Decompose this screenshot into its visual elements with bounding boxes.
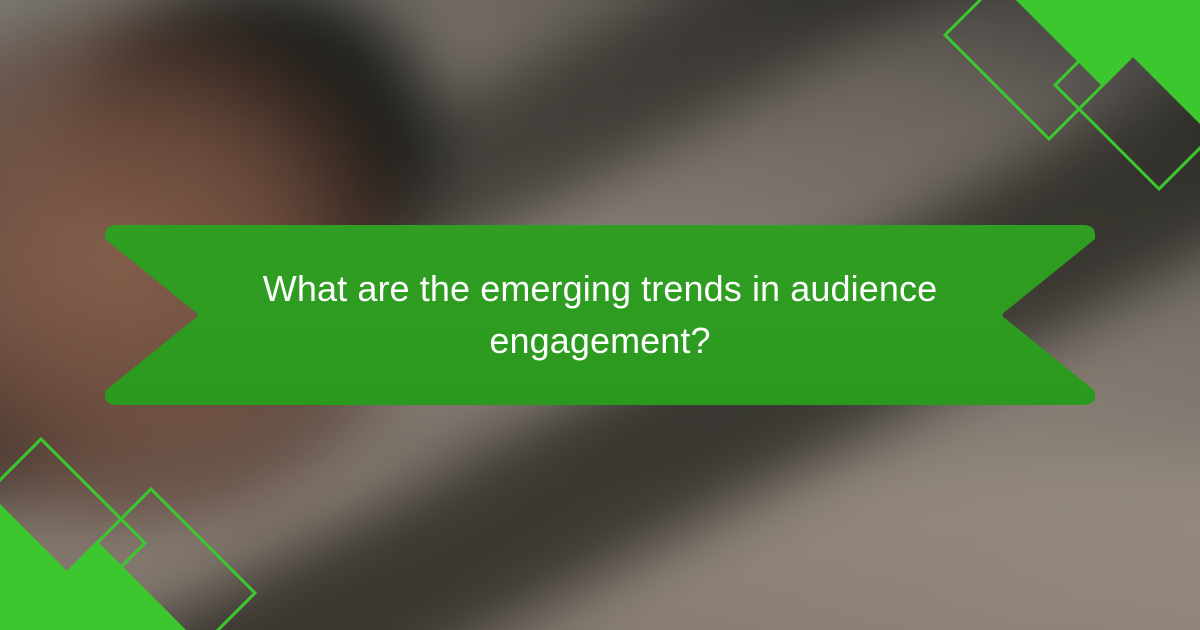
share-card: What are the emerging trends in audience… <box>0 0 1200 630</box>
decoration-bottom-left <box>0 436 190 630</box>
decoration-top-right <box>1010 0 1200 194</box>
headline-text: What are the emerging trends in audience… <box>105 225 1095 405</box>
headline-ribbon: What are the emerging trends in audience… <box>105 225 1095 405</box>
